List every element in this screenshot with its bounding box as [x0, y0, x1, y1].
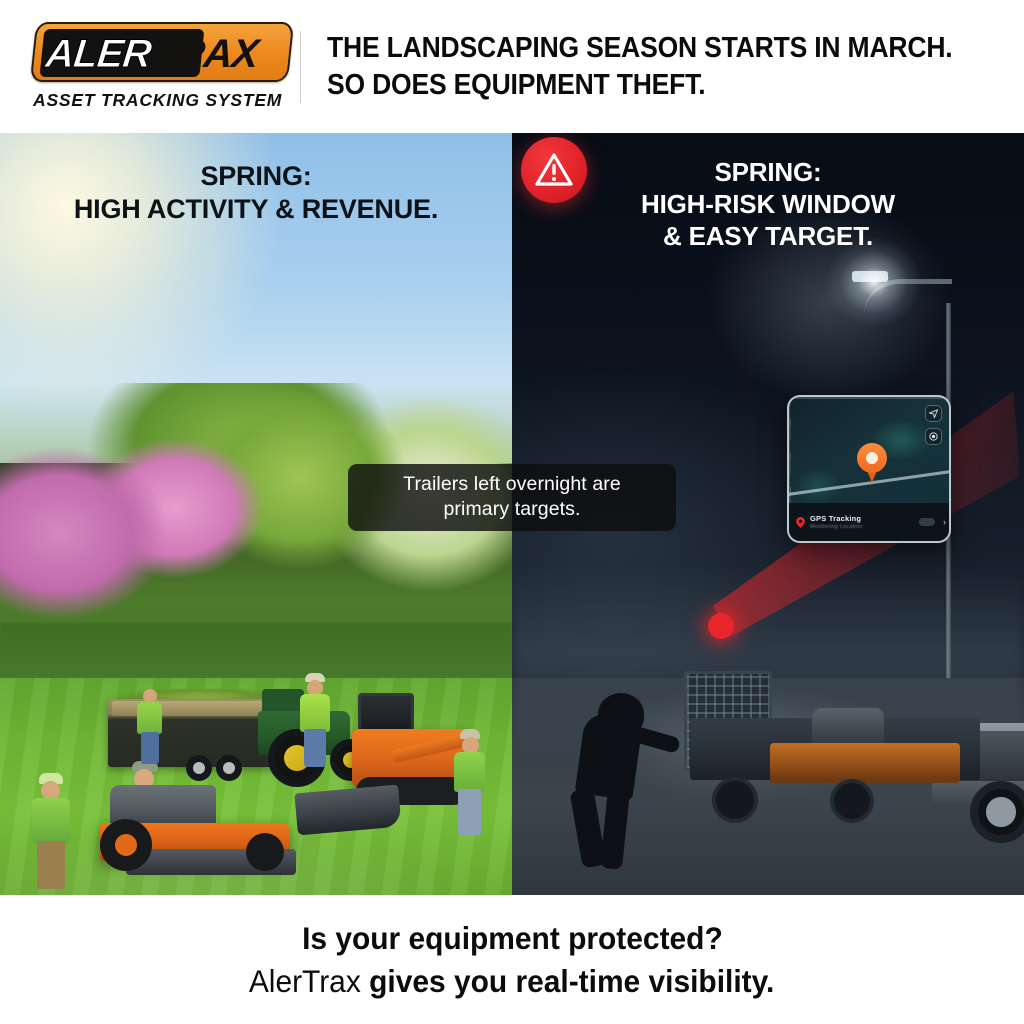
locate-target-icon[interactable] — [925, 428, 942, 445]
map-pin-icon — [857, 443, 887, 483]
night-title-line-2: HIGH-RISK WINDOW — [512, 189, 1024, 221]
crew-member-standing-left — [28, 773, 74, 883]
loader-jeans — [304, 729, 326, 767]
worker-jeans — [458, 789, 481, 835]
footer-question: Is your equipment protected? — [302, 917, 723, 959]
crew-member-right — [452, 729, 488, 835]
night-panel-title: SPRING: HIGH-RISK WINDOW & EASY TARGET. — [512, 157, 1024, 253]
night-mower-deck — [770, 743, 960, 783]
day-title-line-1: SPRING: — [0, 160, 512, 193]
day-title-line-2: HIGH ACTIVITY & REVENUE. — [0, 193, 512, 226]
night-title-line-1: SPRING: — [512, 157, 1024, 189]
night-title-line-3: & EASY TARGET. — [512, 221, 1024, 253]
header-divider — [300, 31, 301, 103]
gps-card-title: GPS Tracking — [810, 514, 914, 523]
page-header: ALERTRAX ® ASSET TRACKING SYSTEM THE LAN… — [0, 0, 1024, 133]
split-comparison-stage: SPRING: HIGH ACTIVITY & REVENUE. — [0, 133, 1024, 895]
crew-member-on-trailer — [298, 673, 332, 765]
streetlight-luminaire — [852, 271, 888, 282]
page-footer: Is your equipment protected? AlerTrax gi… — [0, 895, 1024, 1024]
brand-logo[interactable]: ALERTRAX ® ASSET TRACKING SYSTEM — [0, 0, 300, 133]
logo-text-trax: TRAX — [151, 34, 260, 74]
logo-text-aler: ALER — [44, 34, 153, 74]
trailer-wheel-rear — [216, 755, 242, 781]
gps-card-toggle[interactable] — [919, 518, 935, 526]
logo-badge-shape: ALERTRAX ® — [30, 22, 294, 82]
far-worker-shirt — [137, 702, 162, 734]
gps-card-text-group: GPS Tracking Monitoring Location — [810, 514, 914, 530]
far-worker-head — [143, 689, 157, 703]
footer-brand-name: AlerTrax — [249, 963, 361, 999]
logo-tagline: ASSET TRACKING SYSTEM — [33, 90, 300, 111]
thief-silhouette — [564, 693, 682, 873]
mower-front-caster — [246, 833, 284, 871]
map-pin-head — [857, 443, 887, 473]
footer-cta-rest: gives you real-time visibility. — [361, 963, 775, 999]
footer-cta: AlerTrax gives you real-time visibility. — [249, 960, 775, 1002]
page-headline: THE LANDSCAPING SEASON STARTS IN MARCH. … — [327, 30, 952, 102]
crew-shirt — [32, 798, 70, 844]
headline-line-2: SO DOES EQUIPMENT THEFT. — [327, 67, 952, 103]
chevron-right-icon[interactable]: › — [943, 517, 946, 527]
logo-wordmark: ALERTRAX ® — [32, 24, 295, 82]
mower-rear-tire — [100, 819, 152, 871]
day-panel-title: SPRING: HIGH ACTIVITY & REVENUE. — [0, 160, 512, 226]
loader-shirt — [300, 694, 330, 732]
navigation-icon[interactable] — [925, 405, 942, 422]
far-worker-jeans — [141, 732, 159, 764]
gps-pin-small-icon — [796, 517, 805, 528]
pickup-truck-wheel — [970, 781, 1024, 843]
crew-pants — [37, 841, 65, 889]
caption-trailers-overnight: Trailers left overnight are primary targ… — [348, 464, 676, 531]
thief-leg-front — [600, 788, 630, 870]
crew-member-far-left — [136, 689, 164, 765]
trailer-wheel-front — [186, 755, 212, 781]
headline-line-1: THE LANDSCAPING SEASON STARTS IN MARCH. — [327, 30, 952, 66]
worker-shirt — [454, 752, 485, 792]
night-trailer-wheel-left — [712, 777, 758, 823]
gps-card-status-bar[interactable]: GPS Tracking Monitoring Location › — [789, 503, 951, 541]
gps-tracking-card[interactable]: GPS Tracking Monitoring Location › — [787, 395, 951, 543]
night-trailer-wheel-right — [830, 779, 874, 823]
tracker-beacon-dot — [708, 613, 734, 639]
gps-card-subtitle: Monitoring Location — [810, 524, 914, 530]
